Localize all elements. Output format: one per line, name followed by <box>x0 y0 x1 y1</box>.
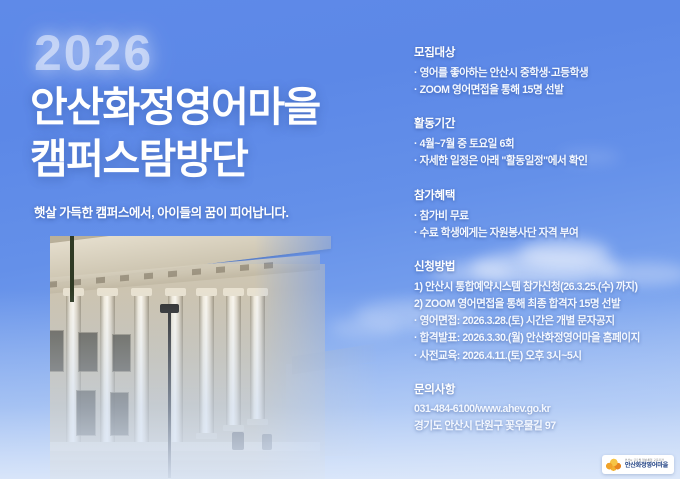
section-contact: 문의사항 031-484-6100/www.ahev.go.kr 경기도 안산시… <box>414 381 676 435</box>
door <box>76 390 96 436</box>
section-list: 031-484-6100/www.ahev.go.kr 경기도 안산시 단원구 … <box>414 401 676 435</box>
section-title: 모집대상 <box>414 44 676 60</box>
window <box>10 328 32 372</box>
list-item: · 영어면접: 2026.3.28.(토) 시간은 개별 문자공지 <box>414 313 676 330</box>
headline-block: 2026 안산화정영어마을 캠퍼스탐방단 햇살 가득한 캠퍼스에서, 아이들의 … <box>30 28 390 221</box>
contact-phone-website[interactable]: 031-484-6100/www.ahev.go.kr <box>414 401 676 418</box>
column-colonnade <box>0 294 298 454</box>
door <box>110 392 129 436</box>
organization-logo-badge: 안산시 글로벌 영어체험 교육기관 안산화정영어마을 <box>602 455 674 474</box>
logo-name: 안산화정영어마을 <box>625 463 668 469</box>
poster-canvas: 2026 안산화정영어마을 캠퍼스탐방단 햇살 가득한 캠퍼스에서, 아이들의 … <box>0 0 680 479</box>
section-list: 1) 안산시 통합예약시스템 참가신청(26.3.25.(수) 까지) 2) Z… <box>414 279 676 365</box>
window <box>112 334 131 372</box>
column <box>134 294 149 444</box>
column <box>32 294 47 444</box>
list-item: · ZOOM 영어면접을 통해 15명 선발 <box>414 82 676 99</box>
section-apply: 신청방법 1) 안산시 통합예약시스템 참가신청(26.3.25.(수) 까지)… <box>414 258 676 365</box>
year-label: 2026 <box>34 28 390 78</box>
lamp-head <box>160 304 179 313</box>
section-title: 신청방법 <box>414 258 676 274</box>
info-column: 모집대상 · 영어를 좋아하는 안산시 중학생·고등학생 · ZOOM 영어면접… <box>414 44 676 451</box>
list-item: · 사전교육: 2026.4.11.(토) 오후 3시~5시 <box>414 348 676 365</box>
building-steps <box>0 442 320 479</box>
campus-building-photo <box>50 236 380 479</box>
poster-title-line-2: 캠퍼스탐방단 <box>30 134 390 184</box>
contact-address: 경기도 안산시 단원구 꽃우물길 97 <box>414 418 676 435</box>
list-item: · 참가비 무료 <box>414 208 676 225</box>
section-list: · 참가비 무료 · 수료 학생에게는 자원봉사단 자격 부여 <box>414 208 676 242</box>
section-title: 참가혜택 <box>414 187 676 203</box>
window <box>44 330 64 372</box>
ivy-foliage <box>0 266 32 386</box>
section-title: 활동기간 <box>414 115 676 131</box>
section-list: · 4월~7월 중 토요일 6회 · 자세한 일정은 아래 "활동일정"에서 확… <box>414 136 676 170</box>
window <box>78 332 98 372</box>
column <box>199 294 214 434</box>
section-recruit: 모집대상 · 영어를 좋아하는 안산시 중학생·고등학생 · ZOOM 영어면접… <box>414 44 676 99</box>
section-period: 활동기간 · 4월~7월 중 토요일 6회 · 자세한 일정은 아래 "활동일정… <box>414 115 676 170</box>
list-item: · 4월~7월 중 토요일 6회 <box>414 136 676 153</box>
list-item: 2) ZOOM 영어면접을 통해 최종 합격자 15명 선발 <box>414 296 676 313</box>
list-item: · 영어를 좋아하는 안산시 중학생·고등학생 <box>414 65 676 82</box>
poster-subtitle: 햇살 가득한 캠퍼스에서, 아이들의 꿈이 피어납니다. <box>34 202 390 221</box>
column <box>226 294 241 426</box>
list-item: 1) 안산시 통합예약시스템 참가신청(26.3.25.(수) 까지) <box>414 279 676 296</box>
trash-bin <box>262 434 272 450</box>
section-title: 문의사항 <box>414 381 676 397</box>
poster-title-line-1: 안산화정영어마을 <box>30 82 390 132</box>
column <box>250 294 265 420</box>
trash-bin <box>232 432 244 450</box>
list-item: · 수료 학생에게는 자원봉사단 자격 부여 <box>414 225 676 242</box>
logo-text-block: 안산시 글로벌 영어체험 교육기관 안산화정영어마을 <box>625 460 668 470</box>
list-item: · 자세한 일정은 아래 "활동일정"에서 확인 <box>414 153 676 170</box>
section-list: · 영어를 좋아하는 안산시 중학생·고등학생 · ZOOM 영어면접을 통해 … <box>414 65 676 99</box>
column <box>0 294 13 444</box>
leaf-cluster-icon <box>606 458 621 471</box>
section-benefits: 참가혜택 · 참가비 무료 · 수료 학생에게는 자원봉사단 자격 부여 <box>414 187 676 242</box>
lamp-post <box>168 310 171 478</box>
list-item: · 합격발표: 2026.3.30.(월) 안산화정영어마을 홈페이지 <box>414 330 676 347</box>
